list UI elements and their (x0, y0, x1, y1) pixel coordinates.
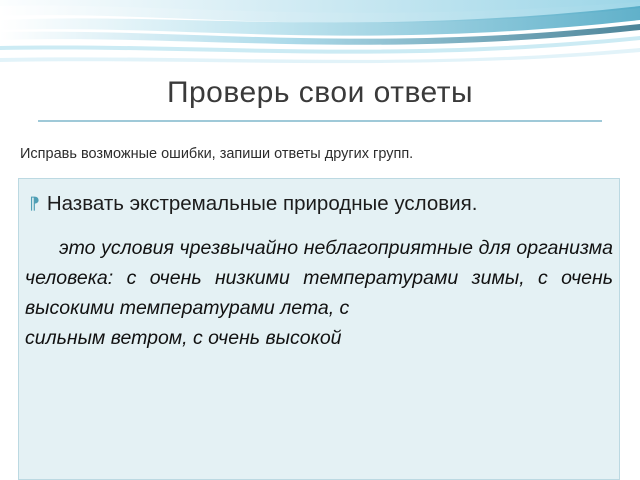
page-title: Проверь свои ответы (0, 76, 640, 110)
title-underline-rule (38, 120, 602, 122)
definition-paragraph-text: это условия чрезвычайно неблагоприятные … (25, 237, 613, 319)
bullet-item-label: Назвать экстремальные природные условия. (47, 191, 478, 217)
definition-paragraph-last-line: сильным ветром, с очень высокой (25, 323, 613, 353)
content-panel: ⁋ Назвать экстремальные природные услови… (18, 178, 620, 480)
decorative-header-band (0, 0, 640, 74)
paragraph-mark-icon: ⁋ (29, 191, 40, 216)
definition-paragraph: это условия чрезвычайно неблагоприятные … (25, 233, 613, 353)
slide-subtitle: Исправь возможные ошибки, запиши ответы … (20, 146, 632, 162)
bullet-list-item: ⁋ Назвать экстремальные природные услови… (19, 179, 619, 217)
